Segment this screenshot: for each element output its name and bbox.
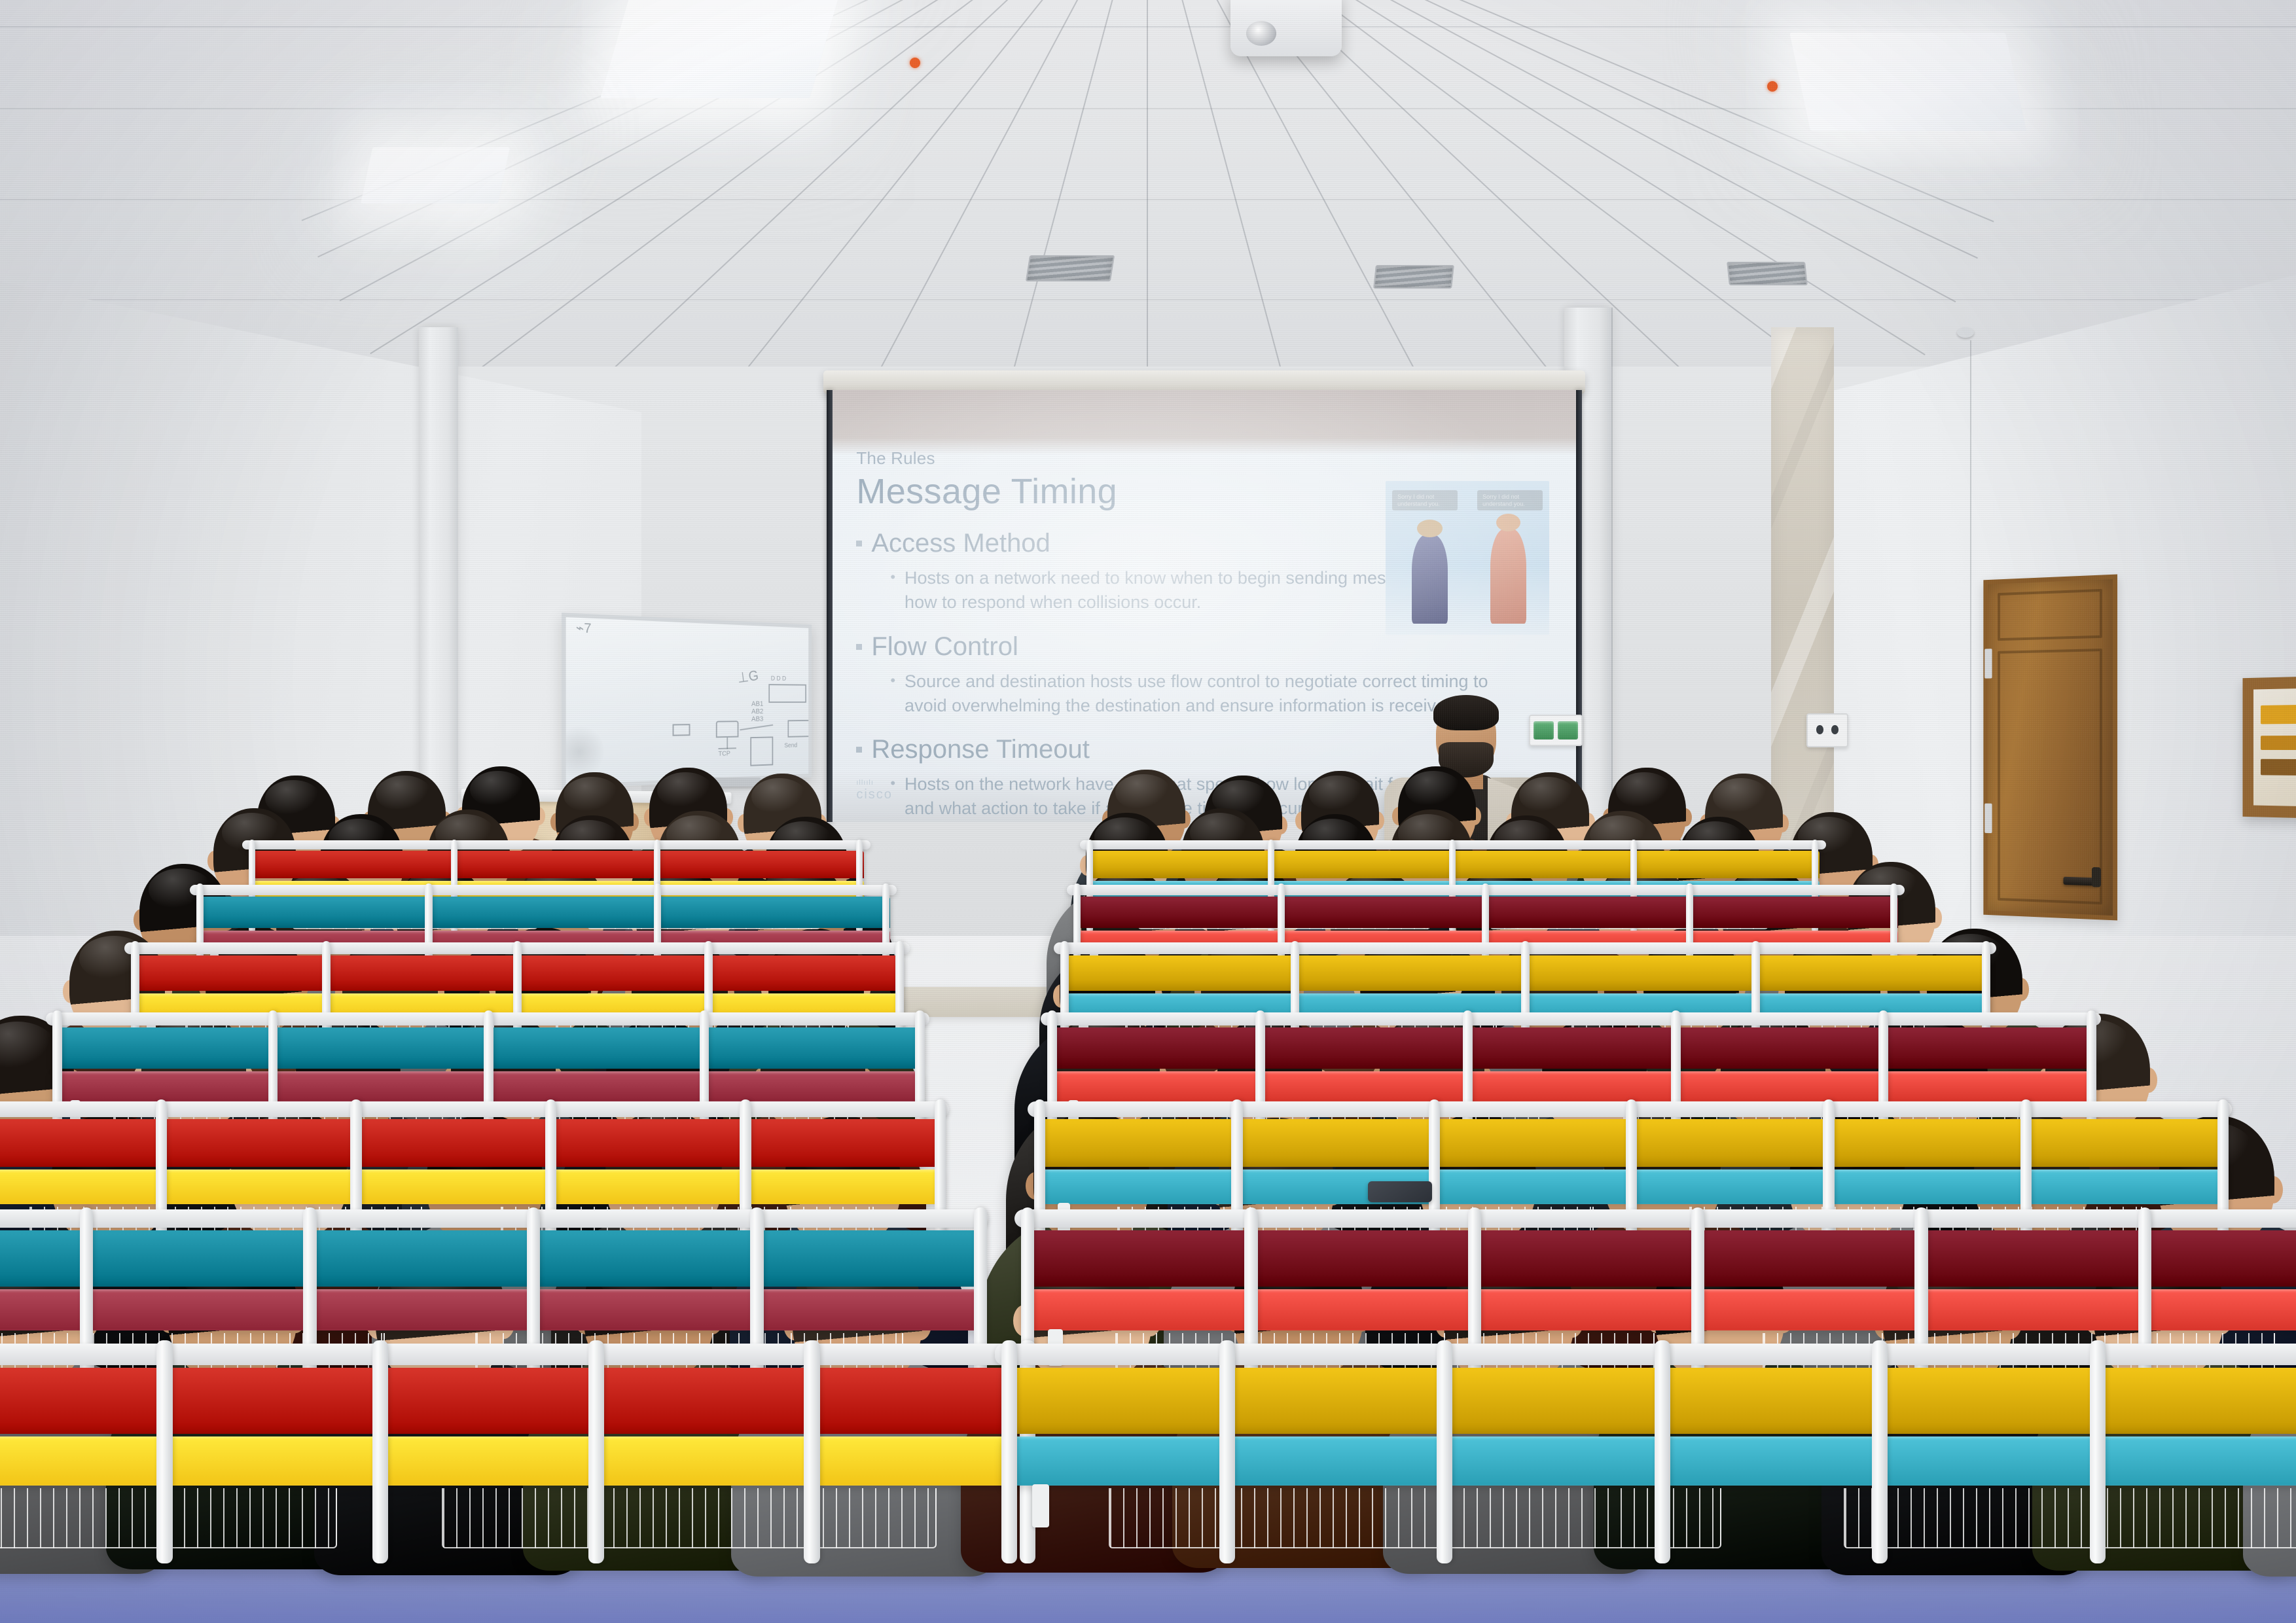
whiteboard-line bbox=[740, 724, 773, 731]
whiteboard-mark: ⊥G bbox=[736, 668, 759, 687]
student-hair-highlight bbox=[1405, 771, 1462, 808]
bench-backrest bbox=[196, 897, 890, 928]
bench-top-rail bbox=[1041, 1012, 2101, 1026]
whiteboard-mark: AB1AB2AB3 bbox=[751, 700, 763, 723]
bench-storage-basket bbox=[1844, 1488, 2296, 1548]
bullet-dot-icon: • bbox=[890, 566, 895, 615]
whiteboard-line bbox=[719, 747, 736, 749]
bench-support-post bbox=[1437, 1340, 1452, 1563]
bench-writing-surface bbox=[0, 1289, 982, 1330]
whiteboard-monitor-sketch bbox=[716, 721, 739, 738]
slide-illustration: Sorry I did not understand you. Sorry I … bbox=[1386, 481, 1549, 634]
ceiling-air-vent bbox=[1727, 262, 1808, 285]
bench-writing-surface bbox=[0, 1436, 1028, 1486]
door-upper-panel bbox=[1998, 589, 2102, 641]
bench-support-post bbox=[588, 1340, 604, 1563]
light-switch-key[interactable] bbox=[1558, 721, 1578, 740]
door-handle[interactable] bbox=[2064, 877, 2098, 886]
picture-band bbox=[2261, 736, 2296, 750]
speech-bubble-left-text: Sorry I did not understand you. bbox=[1397, 493, 1452, 508]
student-hair-highlight bbox=[1519, 777, 1575, 813]
speech-bubble-right: Sorry I did not understand you. bbox=[1477, 490, 1543, 510]
illustration-person-right bbox=[1490, 529, 1526, 624]
speech-bubble-left: Sorry I did not understand you. bbox=[1392, 490, 1458, 510]
student-hair-highlight bbox=[1115, 774, 1172, 811]
bench-storage-basket bbox=[1109, 1488, 1721, 1548]
presenter-hair bbox=[1433, 695, 1499, 730]
student-hair-highlight bbox=[470, 771, 526, 808]
bench-writing-surface bbox=[1021, 1289, 2296, 1330]
bench-top-rail bbox=[0, 1101, 949, 1117]
bench-support-post bbox=[1001, 1340, 1017, 1563]
wall-socket[interactable] bbox=[1806, 713, 1848, 747]
whiteboard-diagram-box bbox=[787, 720, 810, 738]
whiteboard-mark: ⌁7 bbox=[576, 620, 592, 637]
wall-picture-frame bbox=[2243, 675, 2296, 820]
speech-bubble-right-text: Sorry I did not understand you. bbox=[1482, 493, 1537, 508]
bench-backrest bbox=[0, 1368, 1028, 1434]
bench-top-rail bbox=[0, 1344, 1034, 1365]
bench-desk bbox=[1001, 1368, 2296, 1623]
ceiling-light-panel bbox=[1789, 33, 2026, 131]
smoke-detector bbox=[1957, 327, 1974, 338]
bench-top-rail bbox=[0, 1209, 988, 1228]
door-hinge bbox=[1984, 804, 1992, 833]
bench-top-rail bbox=[242, 840, 870, 849]
student-hair-highlight bbox=[751, 778, 808, 815]
slide-section-heading: Flow Control bbox=[856, 632, 1552, 662]
whiteboard-diagram-box bbox=[673, 724, 691, 736]
whiteboard: ⌁7 ⊥G AB1AB2AB3 TCP Send D D D bbox=[562, 613, 812, 789]
ceiling-indicator-dot bbox=[910, 58, 920, 68]
bench-backrest bbox=[0, 1230, 982, 1287]
bench-storage-basket bbox=[442, 1488, 937, 1548]
bench-bracket bbox=[1032, 1484, 1049, 1527]
bench-top-rail bbox=[1014, 1209, 2296, 1228]
bench-desk bbox=[0, 1368, 1028, 1623]
picture-band bbox=[2261, 704, 2296, 724]
bench-support-post bbox=[2090, 1340, 2106, 1563]
bench-support-post bbox=[1655, 1340, 1670, 1563]
whiteboard-mark: TCP bbox=[719, 750, 730, 757]
bullet-square-icon bbox=[856, 644, 862, 650]
bench-support-post bbox=[1872, 1340, 1888, 1563]
screen-right-edge bbox=[1576, 390, 1582, 822]
bench-support-post bbox=[1219, 1340, 1235, 1563]
bullet-square-icon bbox=[856, 541, 862, 546]
bench-support-post bbox=[804, 1340, 819, 1563]
whiteboard-mark: Send bbox=[784, 742, 797, 749]
door-hinge bbox=[1984, 649, 1992, 679]
bench-support-post bbox=[156, 1340, 172, 1563]
whiteboard-mark: D D D bbox=[771, 675, 786, 683]
student-hair-highlight bbox=[376, 776, 432, 812]
bench-backrest bbox=[1047, 1027, 2094, 1069]
ceiling bbox=[0, 0, 2296, 406]
bench-top-rail bbox=[190, 885, 897, 895]
ceiling-air-vent bbox=[1373, 265, 1454, 289]
smartphone-on-desk bbox=[1368, 1181, 1432, 1202]
slide-section-heading-text: Response Timeout bbox=[871, 735, 1090, 764]
wall-corner-line bbox=[1970, 340, 1971, 929]
ceiling-indicator-dot bbox=[1767, 81, 1778, 92]
bench-writing-surface bbox=[0, 1169, 942, 1205]
student-hair-highlight bbox=[1309, 776, 1365, 812]
ceiling-light-panel bbox=[361, 147, 510, 204]
bullet-dot-icon: • bbox=[890, 669, 895, 719]
whiteboard-diagram-box bbox=[768, 684, 806, 703]
bench-writing-surface bbox=[1047, 1071, 2094, 1101]
ceiling-projector bbox=[1230, 0, 1342, 56]
slide-eyebrow: The Rules bbox=[856, 448, 1552, 469]
bullet-square-icon bbox=[856, 747, 862, 753]
student-hair-highlight bbox=[1798, 817, 1857, 855]
student-hair-highlight bbox=[657, 772, 713, 809]
slide-section-heading-text: Flow Control bbox=[871, 632, 1018, 662]
ceiling-air-vent bbox=[1026, 255, 1115, 281]
bench-support-post bbox=[372, 1340, 388, 1563]
picture-band bbox=[2261, 759, 2296, 776]
screen-left-edge bbox=[827, 390, 833, 822]
slide-section-heading-text: Access Method bbox=[871, 529, 1050, 558]
whiteboard-diagram-box bbox=[750, 736, 773, 766]
lecture-hall-photo: ⌁7 ⊥G AB1AB2AB3 TCP Send D D D The Rules… bbox=[0, 0, 2296, 1623]
student-hair-highlight bbox=[1616, 772, 1672, 809]
bench-backrest bbox=[0, 1119, 942, 1167]
ceiling-light-panel bbox=[600, 0, 840, 98]
student-hair-highlight bbox=[564, 777, 620, 813]
illustration-person-left bbox=[1412, 535, 1448, 624]
bench-backrest bbox=[1021, 1230, 2296, 1287]
bench-backrest bbox=[249, 851, 864, 878]
student-hair-highlight bbox=[1713, 778, 1769, 815]
